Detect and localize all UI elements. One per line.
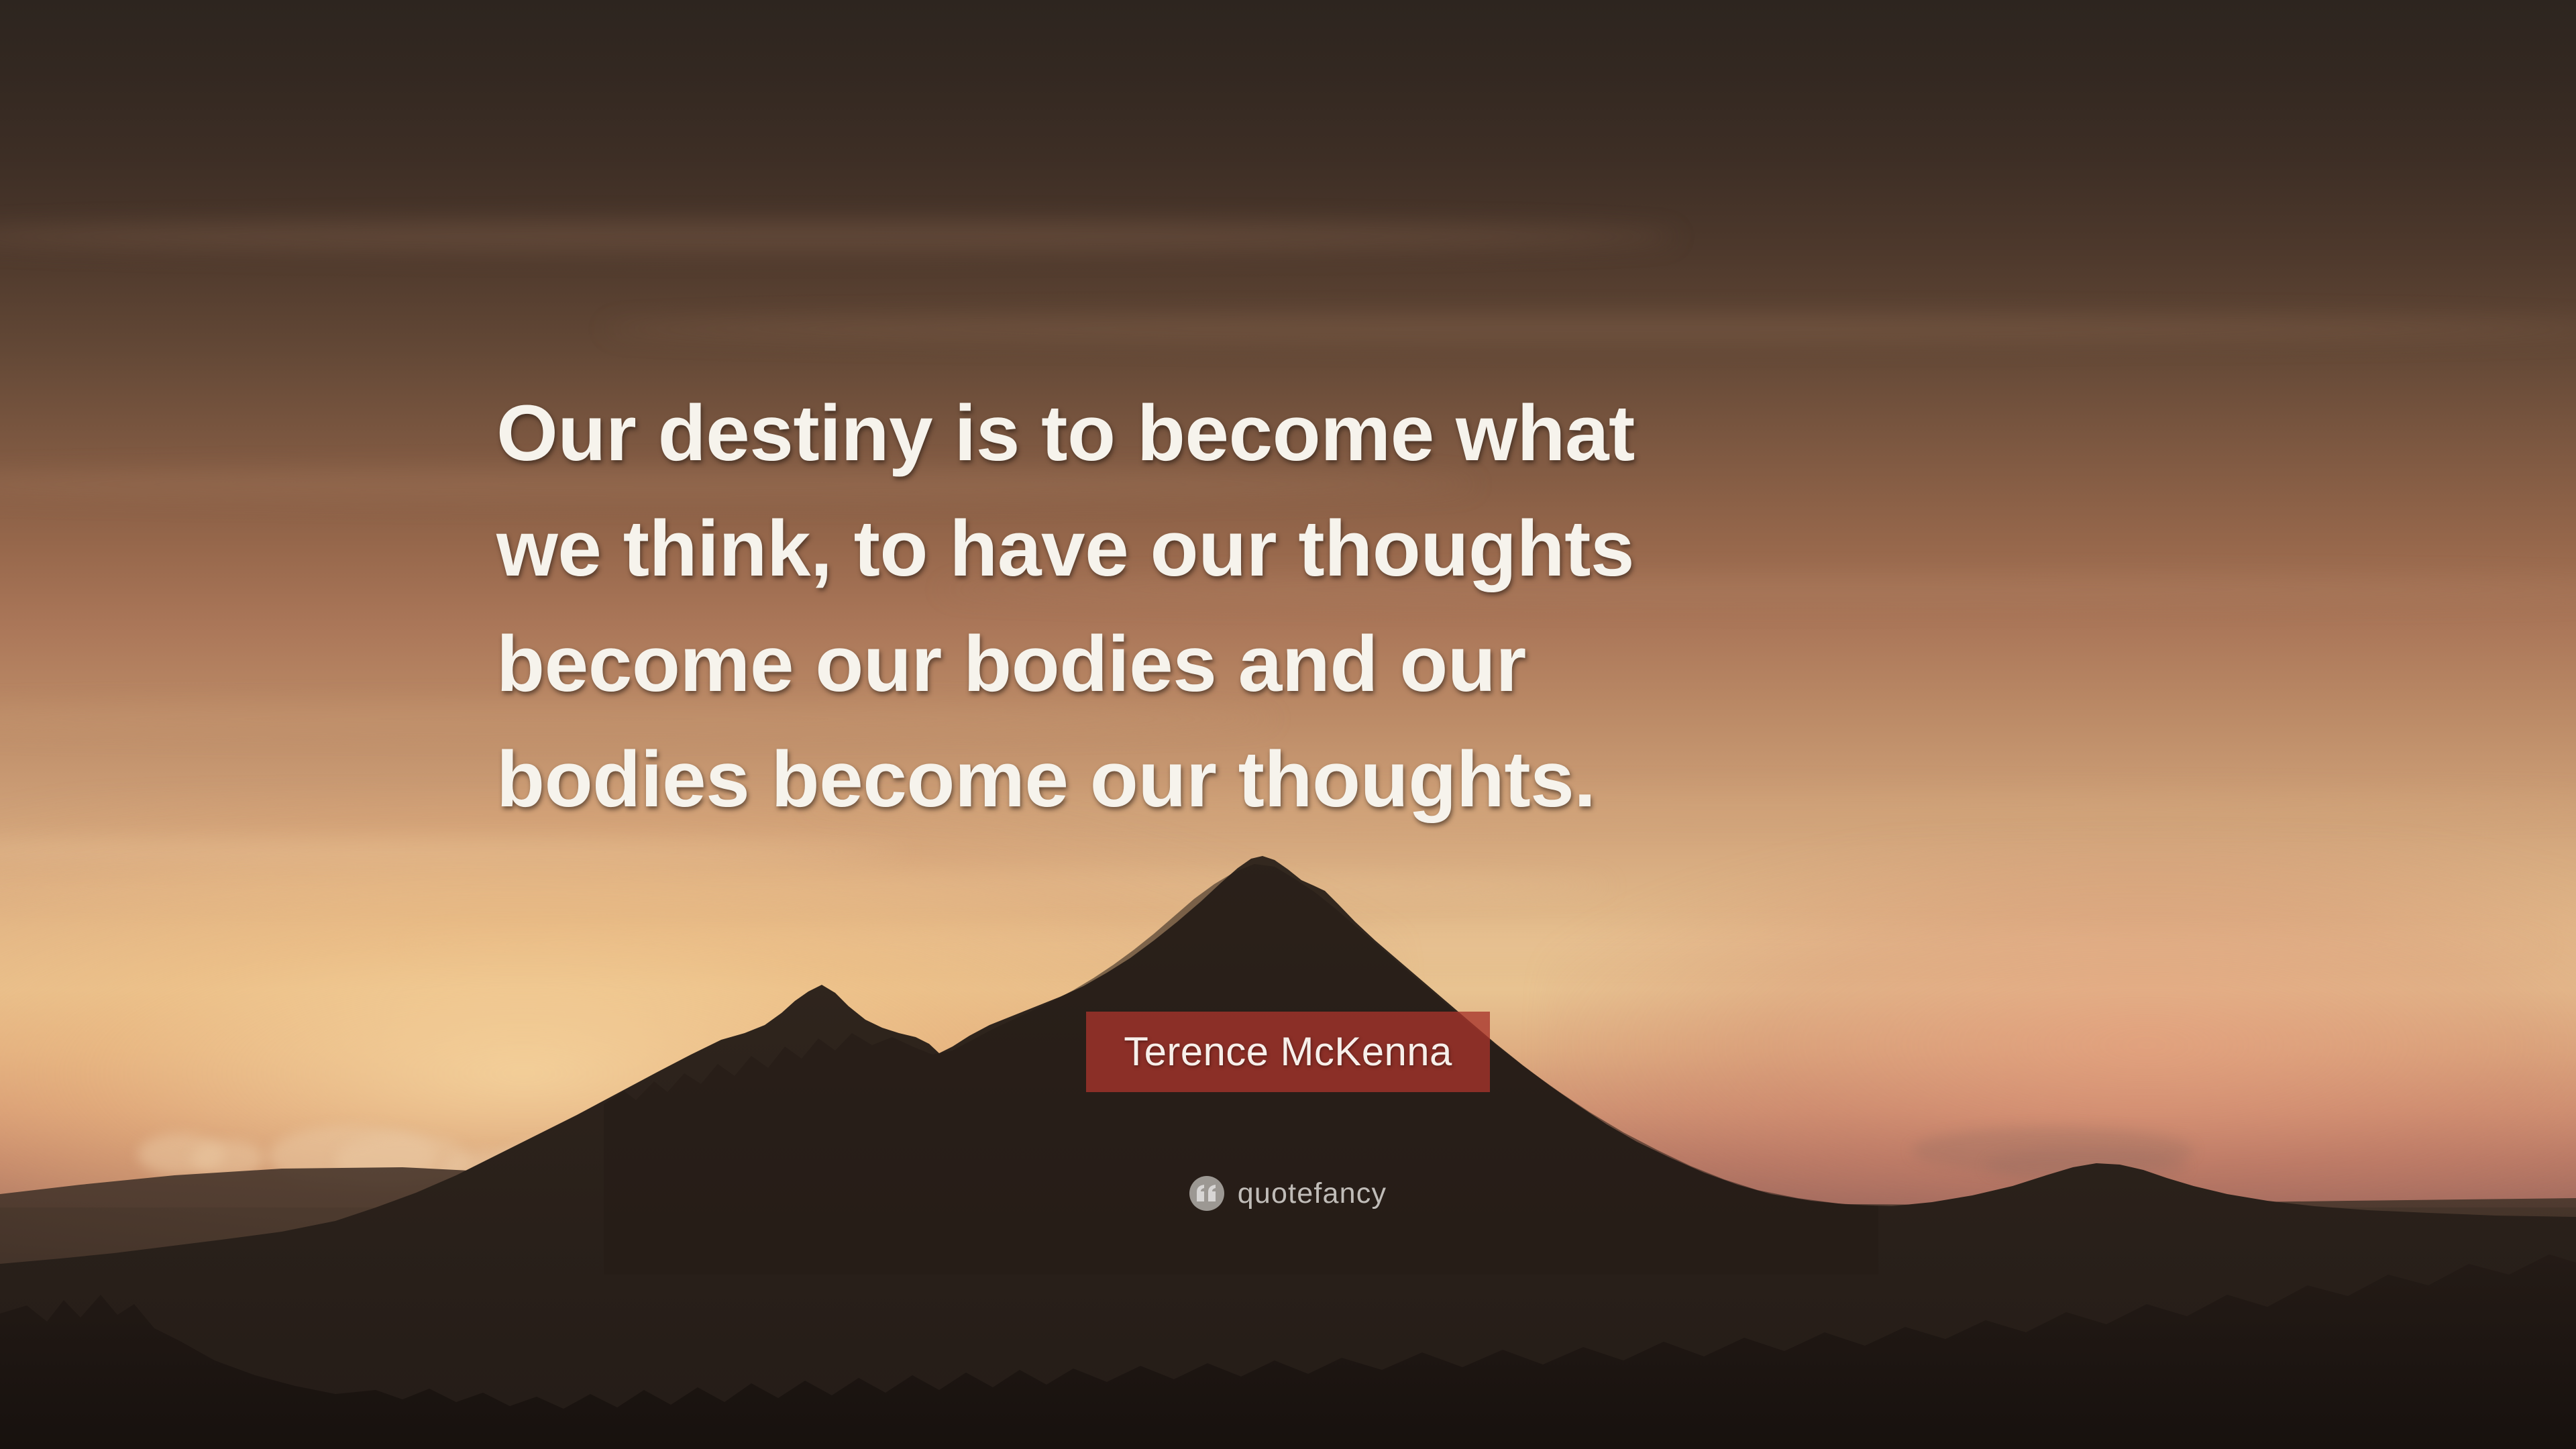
author-attribution: Terence McKenna [0, 1012, 2576, 1092]
quote-poster: Our destiny is to become what we think, … [0, 0, 2576, 1449]
author-name-banner: Terence McKenna [1086, 1012, 1490, 1092]
poster-content: Our destiny is to become what we think, … [0, 0, 2576, 1449]
quote-marks-icon [1189, 1176, 1224, 1211]
quote-line: we think, to have our thoughts [496, 491, 2106, 606]
quotefancy-watermark[interactable]: quotefancy [0, 1176, 2576, 1211]
quotefancy-brand-text: quotefancy [1238, 1177, 1387, 1210]
quote-text: Our destiny is to become what we think, … [496, 376, 2106, 837]
quote-line: bodies become our thoughts. [496, 722, 2106, 837]
quote-line: Our destiny is to become what [496, 376, 2106, 491]
quote-line: become our bodies and our [496, 606, 2106, 722]
